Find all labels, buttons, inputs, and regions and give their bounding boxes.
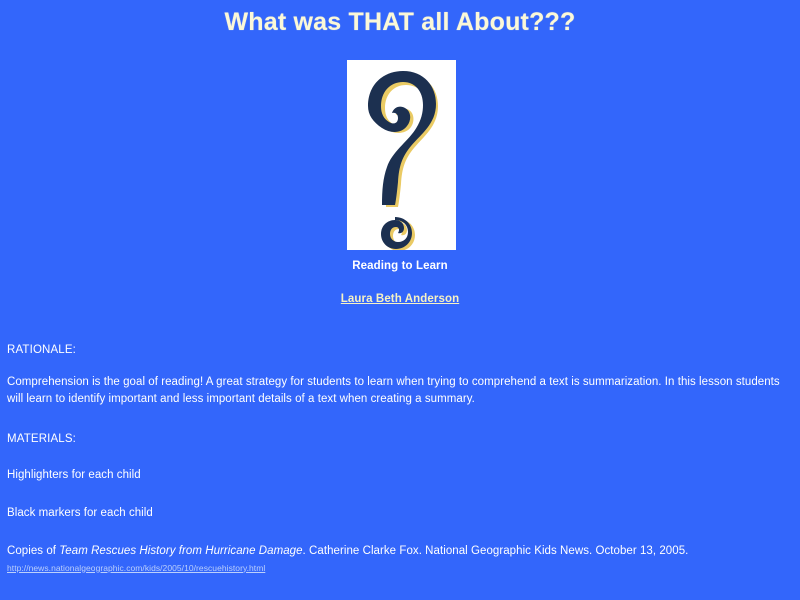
materials-item: Highlighters for each child: [7, 467, 793, 483]
question-mark-image: [347, 60, 456, 250]
page-title: What was THAT all About???: [0, 8, 800, 37]
rationale-paragraph: Comprehension is the goal of reading! A …: [7, 374, 793, 407]
reference-title: Team Rescues History from Hurricane Dama…: [59, 545, 302, 557]
author-link[interactable]: Laura Beth Anderson: [341, 293, 459, 305]
question-mark-icon: [347, 60, 456, 250]
document-body: RATIONALE: Comprehension is the goal of …: [7, 344, 793, 576]
rationale-heading: RATIONALE:: [7, 344, 793, 356]
author-line: Laura Beth Anderson: [0, 289, 800, 307]
materials-item: Black markers for each child: [7, 505, 793, 521]
materials-reference: Copies of Team Rescues History from Hurr…: [7, 543, 793, 576]
materials-heading: MATERIALS:: [7, 433, 793, 445]
image-caption: Reading to Learn: [0, 260, 800, 272]
document-page: What was THAT all About??? Reading to Le…: [0, 0, 800, 600]
reference-prefix: Copies of: [7, 545, 59, 557]
reference-suffix: . Catherine Clarke Fox. National Geograp…: [303, 545, 689, 557]
reference-url-link[interactable]: http://news.nationalgeographic.com/kids/…: [7, 563, 265, 573]
